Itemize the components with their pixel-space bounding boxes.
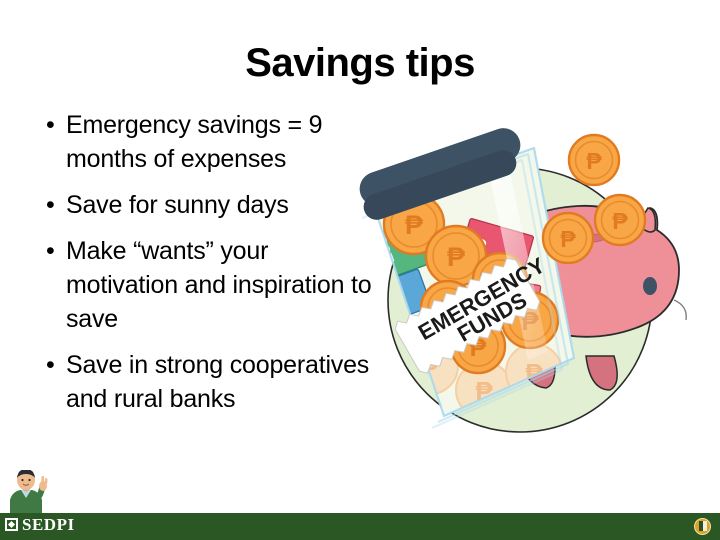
svg-text:100: 100 — [364, 288, 389, 317]
sedpi-logo: SEDPI — [5, 516, 75, 533]
bullet-marker-icon: • — [46, 108, 66, 142]
footer-bar — [0, 513, 720, 540]
brand-name: SEDPI — [22, 516, 75, 533]
bullet-marker-icon: • — [46, 234, 66, 268]
list-item: • Save for sunny days — [46, 188, 376, 222]
svg-text:₱: ₱ — [405, 210, 424, 240]
slide-canvas: Savings tips • Emergency savings = 9 mon… — [0, 0, 720, 540]
presenter-avatar — [2, 470, 54, 515]
bullet-text: Save in strong cooperatives and rural ba… — [66, 348, 376, 416]
bullet-marker-icon: • — [46, 348, 66, 382]
bullet-text: Emergency savings = 9 months of expenses — [66, 108, 376, 176]
list-item: • Emergency savings = 9 months of expens… — [46, 108, 376, 176]
coin-falling-3: ₱ — [543, 213, 593, 263]
bullet-list: • Emergency savings = 9 months of expens… — [46, 108, 376, 428]
list-item: • Make “wants” your motivation and inspi… — [46, 234, 376, 336]
bullet-marker-icon: • — [46, 188, 66, 222]
page-title: Savings tips — [0, 42, 720, 84]
list-item: • Save in strong cooperatives and rural … — [46, 348, 376, 416]
bullet-text: Make “wants” your motivation and inspira… — [66, 234, 376, 336]
svg-text:₱: ₱ — [586, 148, 602, 174]
gold-seal-badge-icon — [694, 518, 711, 535]
sedpi-square-mark-icon — [5, 518, 18, 531]
coin-falling-2: ₱ — [595, 195, 645, 245]
svg-text:₱: ₱ — [447, 242, 466, 272]
coin-falling-1: ₱ — [569, 135, 619, 185]
emergency-funds-illustration: 200 100 50 — [338, 128, 698, 478]
svg-text:₱: ₱ — [560, 226, 576, 252]
bullet-text: Save for sunny days — [66, 188, 376, 222]
svg-text:₱: ₱ — [612, 208, 628, 234]
